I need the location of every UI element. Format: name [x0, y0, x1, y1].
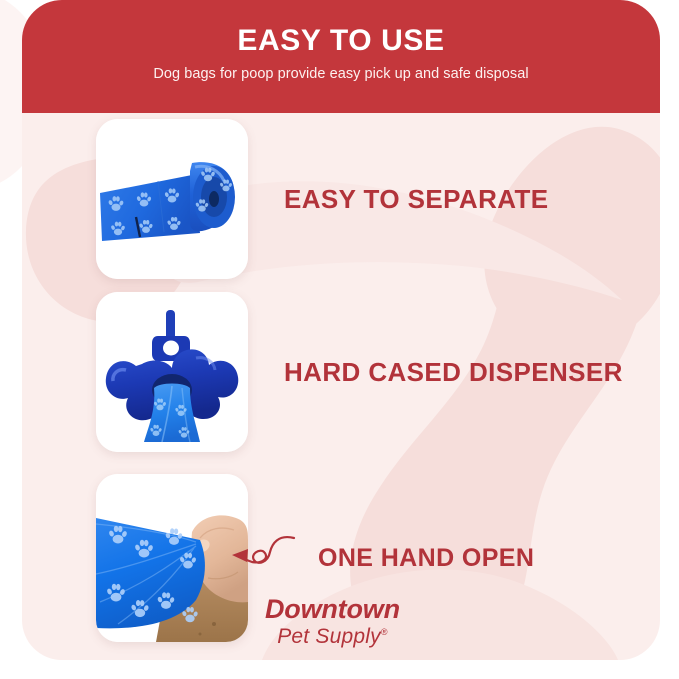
blue-bone-shaped-bag-dispenser-with-clip: [96, 292, 248, 452]
brand-line-2-text: Pet Supply: [277, 625, 381, 648]
brand-line-1: Downtown: [265, 596, 400, 623]
feature-label-easy-to-separate: EASY TO SEPARATE: [284, 184, 549, 215]
thumbnail-bone-dispenser[interactable]: [96, 292, 248, 452]
thumbnail-roll-of-bags[interactable]: [96, 119, 248, 279]
hand-opening-blue-paw-print-bag: [96, 474, 248, 642]
feature-row-hard-cased-dispenser: HARD CASED DISPENSER: [96, 292, 623, 452]
page-title: EASY TO USE: [22, 24, 660, 58]
roll-of-blue-paw-print-dog-bags: [96, 119, 248, 279]
feature-label-hard-cased-dispenser: HARD CASED DISPENSER: [284, 357, 623, 388]
curly-arrow-pointing-left: [228, 528, 298, 572]
registered-mark: ®: [381, 627, 388, 637]
thumbnail-one-hand-open[interactable]: [96, 474, 248, 642]
feature-label-one-hand-open: ONE HAND OPEN: [318, 544, 534, 573]
brand-line-2: Pet Supply®: [265, 626, 400, 647]
header-subtitle: Dog bags for poop provide easy pick up a…: [22, 66, 660, 82]
product-infographic: EASY TO USE Dog bags for poop provide ea…: [0, 0, 679, 679]
header-banner: EASY TO USE Dog bags for poop provide ea…: [22, 0, 660, 113]
brand-logo: Downtown Pet Supply®: [265, 596, 400, 647]
feature-row-easy-to-separate: EASY TO SEPARATE: [96, 119, 549, 279]
